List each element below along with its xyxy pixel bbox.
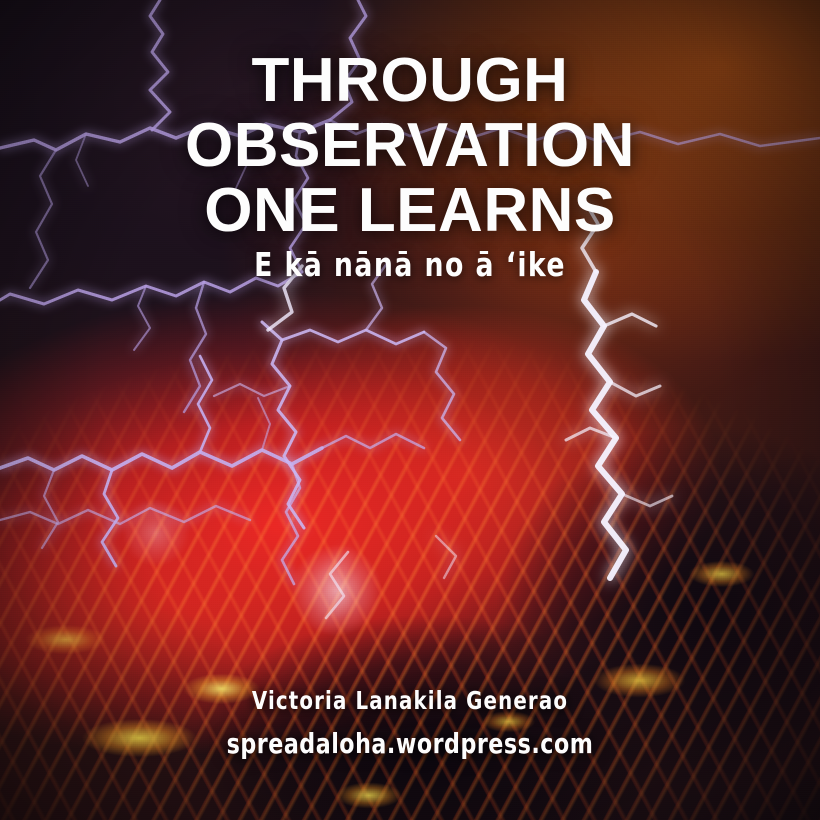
text-content-layer: THROUGH OBSERVATION ONE LEARNS E kā nānā… <box>0 0 820 820</box>
headline: THROUGH OBSERVATION ONE LEARNS <box>0 48 820 243</box>
quote-poster: THROUGH OBSERVATION ONE LEARNS E kā nānā… <box>0 0 820 820</box>
headline-line-2: OBSERVATION <box>0 113 820 178</box>
headline-line-1: THROUGH <box>0 48 820 113</box>
website-url[interactable]: spreadaloha.wordpress.com <box>49 728 771 760</box>
hawaiian-subtitle: E kā nānā no ā ʻike <box>41 246 779 284</box>
author-name: Victoria Lanakila Generao <box>49 686 771 716</box>
headline-line-3: ONE LEARNS <box>0 178 820 243</box>
attribution: Victoria Lanakila Generao spreadaloha.wo… <box>0 686 820 760</box>
